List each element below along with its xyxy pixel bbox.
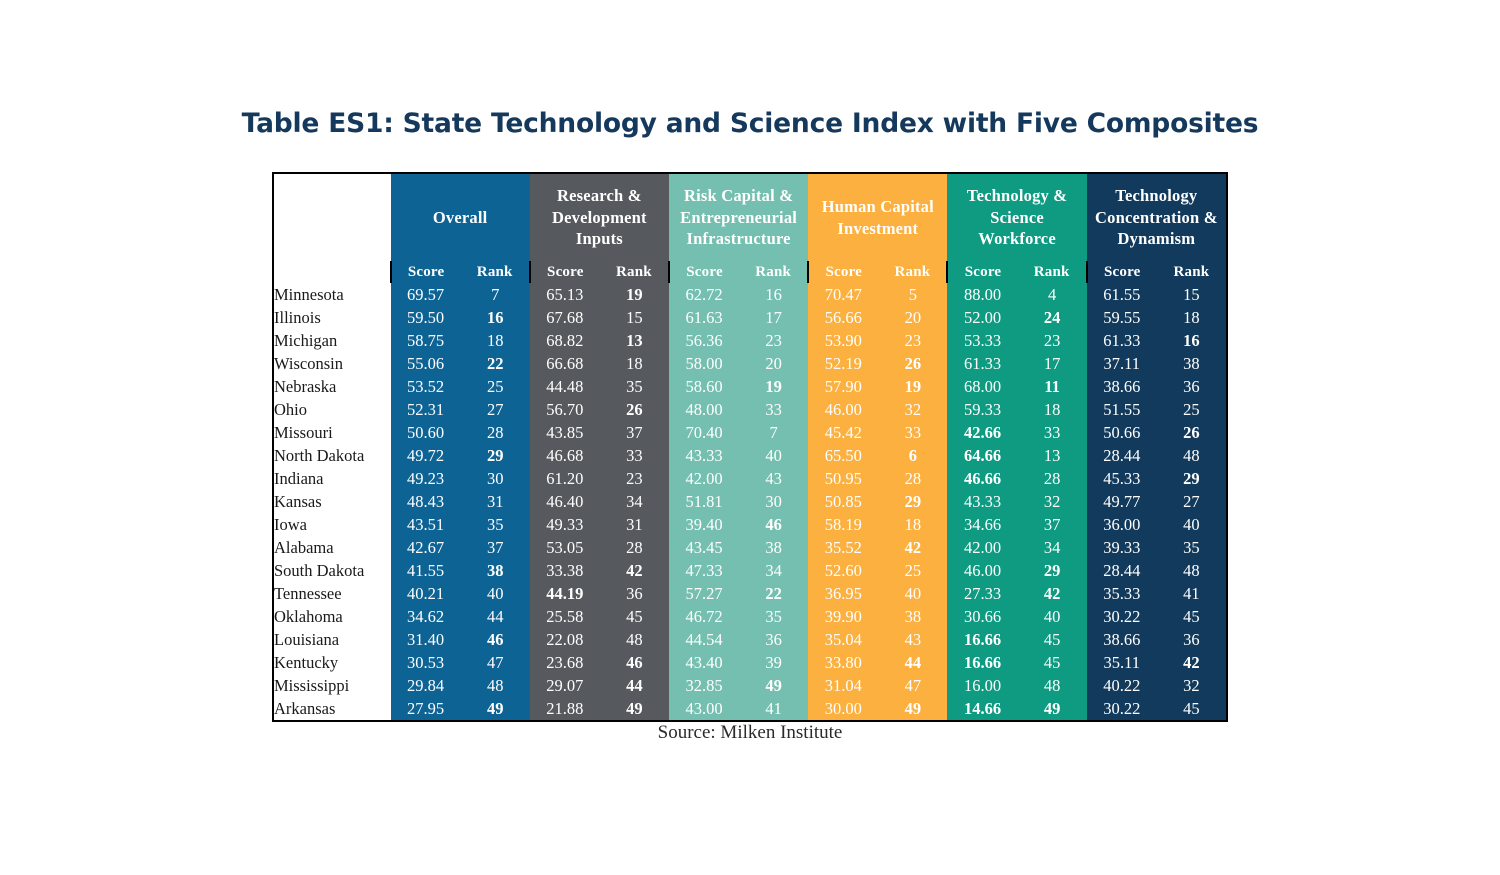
state-name-cell: Michigan: [274, 329, 391, 352]
techconc-rank-cell: 42: [1157, 651, 1226, 674]
techconc-rank-cell: 45: [1157, 605, 1226, 628]
rd-score-cell: 43.85: [530, 421, 600, 444]
overall-score-cell: 49.23: [391, 467, 461, 490]
workf-rank-cell: 28: [1018, 467, 1087, 490]
techconc-score-cell: 30.22: [1087, 605, 1157, 628]
rd-score-cell: 46.40: [530, 490, 600, 513]
sub-header-human-score: Score: [808, 261, 878, 283]
overall-rank-cell: 27: [461, 398, 530, 421]
overall-score-cell: 29.84: [391, 674, 461, 697]
human-score-cell: 36.95: [808, 582, 878, 605]
table-row: Wisconsin55.062266.681858.002052.192661.…: [274, 352, 1226, 375]
state-name-cell: North Dakota: [274, 444, 391, 467]
group-header-rd-line3: Inputs: [530, 228, 669, 250]
overall-score-cell: 69.57: [391, 283, 461, 306]
state-name-cell: Arkansas: [274, 697, 391, 720]
rd-rank-cell: 48: [600, 628, 669, 651]
human-rank-cell: 19: [878, 375, 947, 398]
rd-score-cell: 29.07: [530, 674, 600, 697]
risk-rank-cell: 46: [739, 513, 808, 536]
human-score-cell: 52.60: [808, 559, 878, 582]
risk-score-cell: 46.72: [669, 605, 739, 628]
state-name-cell: Tennessee: [274, 582, 391, 605]
human-score-cell: 39.90: [808, 605, 878, 628]
human-rank-cell: 33: [878, 421, 947, 444]
human-rank-cell: 18: [878, 513, 947, 536]
overall-score-cell: 50.60: [391, 421, 461, 444]
techconc-rank-cell: 36: [1157, 375, 1226, 398]
sub-header-overall-score: Score: [391, 261, 461, 283]
techconc-rank-cell: 35: [1157, 536, 1226, 559]
risk-rank-cell: 17: [739, 306, 808, 329]
workf-rank-cell: 24: [1018, 306, 1087, 329]
human-rank-cell: 20: [878, 306, 947, 329]
risk-rank-cell: 22: [739, 582, 808, 605]
rd-score-cell: 67.68: [530, 306, 600, 329]
overall-rank-cell: 7: [461, 283, 530, 306]
risk-score-cell: 48.00: [669, 398, 739, 421]
group-header-human-capital-investment: Human Capital Investment: [808, 174, 947, 261]
table-body: Minnesota69.57765.131962.721670.47588.00…: [274, 283, 1226, 720]
overall-score-cell: 58.75: [391, 329, 461, 352]
risk-score-cell: 39.40: [669, 513, 739, 536]
techconc-rank-cell: 27: [1157, 490, 1226, 513]
workf-score-cell: 30.66: [947, 605, 1017, 628]
sub-header-techconc-rank: Rank: [1157, 261, 1226, 283]
state-name-cell: Ohio: [274, 398, 391, 421]
human-score-cell: 31.04: [808, 674, 878, 697]
table-row: Minnesota69.57765.131962.721670.47588.00…: [274, 283, 1226, 306]
risk-score-cell: 58.00: [669, 352, 739, 375]
techconc-score-cell: 49.77: [1087, 490, 1157, 513]
workf-score-cell: 59.33: [947, 398, 1017, 421]
table-row: Illinois59.501667.681561.631756.662052.0…: [274, 306, 1226, 329]
sub-header-corner: [274, 261, 391, 283]
group-header-rd-line2: Development: [530, 207, 669, 229]
human-rank-cell: 5: [878, 283, 947, 306]
rd-score-cell: 65.13: [530, 283, 600, 306]
overall-rank-cell: 35: [461, 513, 530, 536]
group-header-techconc-line1: Technology: [1087, 185, 1226, 207]
human-score-cell: 35.52: [808, 536, 878, 559]
risk-score-cell: 43.45: [669, 536, 739, 559]
sub-header-overall-rank: Rank: [461, 261, 530, 283]
workf-rank-cell: 40: [1018, 605, 1087, 628]
risk-rank-cell: 49: [739, 674, 808, 697]
techconc-score-cell: 61.33: [1087, 329, 1157, 352]
workf-score-cell: 14.66: [947, 697, 1017, 720]
state-name-cell: Nebraska: [274, 375, 391, 398]
overall-rank-cell: 28: [461, 421, 530, 444]
overall-rank-cell: 46: [461, 628, 530, 651]
workf-score-cell: 16.66: [947, 651, 1017, 674]
human-rank-cell: 32: [878, 398, 947, 421]
state-name-cell: Oklahoma: [274, 605, 391, 628]
table-row: Indiana49.233061.202342.004350.952846.66…: [274, 467, 1226, 490]
risk-score-cell: 58.60: [669, 375, 739, 398]
techconc-rank-cell: 15: [1157, 283, 1226, 306]
overall-rank-cell: 48: [461, 674, 530, 697]
techconc-rank-cell: 40: [1157, 513, 1226, 536]
techconc-score-cell: 35.11: [1087, 651, 1157, 674]
workf-score-cell: 61.33: [947, 352, 1017, 375]
rd-score-cell: 53.05: [530, 536, 600, 559]
rd-rank-cell: 26: [600, 398, 669, 421]
human-rank-cell: 38: [878, 605, 947, 628]
techconc-score-cell: 51.55: [1087, 398, 1157, 421]
workf-rank-cell: 29: [1018, 559, 1087, 582]
human-score-cell: 57.90: [808, 375, 878, 398]
corner-cell: [274, 174, 391, 261]
overall-score-cell: 49.72: [391, 444, 461, 467]
state-name-cell: Mississippi: [274, 674, 391, 697]
rd-rank-cell: 44: [600, 674, 669, 697]
risk-rank-cell: 19: [739, 375, 808, 398]
techconc-score-cell: 50.66: [1087, 421, 1157, 444]
human-rank-cell: 40: [878, 582, 947, 605]
workf-score-cell: 42.66: [947, 421, 1017, 444]
risk-score-cell: 57.27: [669, 582, 739, 605]
human-score-cell: 30.00: [808, 697, 878, 720]
rd-rank-cell: 19: [600, 283, 669, 306]
human-rank-cell: 29: [878, 490, 947, 513]
rd-score-cell: 22.08: [530, 628, 600, 651]
group-header-overall-line1: Overall: [391, 207, 530, 229]
risk-rank-cell: 36: [739, 628, 808, 651]
risk-score-cell: 51.81: [669, 490, 739, 513]
overall-rank-cell: 49: [461, 697, 530, 720]
table-row: South Dakota41.553833.384247.333452.6025…: [274, 559, 1226, 582]
human-score-cell: 45.42: [808, 421, 878, 444]
rd-score-cell: 33.38: [530, 559, 600, 582]
risk-score-cell: 62.72: [669, 283, 739, 306]
techconc-rank-cell: 45: [1157, 697, 1226, 720]
workf-rank-cell: 48: [1018, 674, 1087, 697]
techconc-rank-cell: 29: [1157, 467, 1226, 490]
risk-rank-cell: 20: [739, 352, 808, 375]
human-rank-cell: 26: [878, 352, 947, 375]
workf-score-cell: 46.00: [947, 559, 1017, 582]
state-name-cell: Illinois: [274, 306, 391, 329]
rd-score-cell: 56.70: [530, 398, 600, 421]
workf-rank-cell: 33: [1018, 421, 1087, 444]
state-technology-science-index-table: Overall Research & Development Inputs Ri…: [272, 172, 1228, 722]
techconc-rank-cell: 18: [1157, 306, 1226, 329]
rd-rank-cell: 36: [600, 582, 669, 605]
sub-header-rd-rank: Rank: [600, 261, 669, 283]
overall-score-cell: 42.67: [391, 536, 461, 559]
state-name-cell: Louisiana: [274, 628, 391, 651]
group-header-human-line2: Investment: [808, 218, 947, 240]
rd-score-cell: 25.58: [530, 605, 600, 628]
overall-score-cell: 52.31: [391, 398, 461, 421]
table-row: Alabama42.673753.052843.453835.524242.00…: [274, 536, 1226, 559]
group-header-workforce-line2: Science: [947, 207, 1086, 229]
overall-rank-cell: 38: [461, 559, 530, 582]
rd-score-cell: 46.68: [530, 444, 600, 467]
human-score-cell: 35.04: [808, 628, 878, 651]
overall-score-cell: 53.52: [391, 375, 461, 398]
group-header-overall: Overall: [391, 174, 530, 261]
overall-score-cell: 30.53: [391, 651, 461, 674]
rd-rank-cell: 28: [600, 536, 669, 559]
workf-score-cell: 16.00: [947, 674, 1017, 697]
risk-rank-cell: 34: [739, 559, 808, 582]
rd-rank-cell: 42: [600, 559, 669, 582]
techconc-score-cell: 37.11: [1087, 352, 1157, 375]
table-row: Ohio52.312756.702648.003346.003259.33185…: [274, 398, 1226, 421]
techconc-rank-cell: 36: [1157, 628, 1226, 651]
group-header-research-development-inputs: Research & Development Inputs: [530, 174, 669, 261]
table-row: Nebraska53.522544.483558.601957.901968.0…: [274, 375, 1226, 398]
risk-score-cell: 70.40: [669, 421, 739, 444]
human-score-cell: 46.00: [808, 398, 878, 421]
human-rank-cell: 42: [878, 536, 947, 559]
group-header-risk-line2: Entrepreneurial: [669, 207, 808, 229]
techconc-score-cell: 28.44: [1087, 559, 1157, 582]
techconc-score-cell: 36.00: [1087, 513, 1157, 536]
techconc-score-cell: 30.22: [1087, 697, 1157, 720]
overall-score-cell: 41.55: [391, 559, 461, 582]
human-score-cell: 50.95: [808, 467, 878, 490]
group-header-technology-science-workforce: Technology & Science Workforce: [947, 174, 1086, 261]
techconc-score-cell: 59.55: [1087, 306, 1157, 329]
workf-score-cell: 46.66: [947, 467, 1017, 490]
techconc-rank-cell: 41: [1157, 582, 1226, 605]
table-row: Arkansas27.954921.884943.004130.004914.6…: [274, 697, 1226, 720]
workf-rank-cell: 34: [1018, 536, 1087, 559]
human-rank-cell: 43: [878, 628, 947, 651]
workf-rank-cell: 45: [1018, 628, 1087, 651]
human-score-cell: 65.50: [808, 444, 878, 467]
risk-score-cell: 32.85: [669, 674, 739, 697]
workf-score-cell: 52.00: [947, 306, 1017, 329]
sub-header-risk-score: Score: [669, 261, 739, 283]
rd-rank-cell: 13: [600, 329, 669, 352]
human-rank-cell: 6: [878, 444, 947, 467]
rd-rank-cell: 37: [600, 421, 669, 444]
overall-rank-cell: 37: [461, 536, 530, 559]
workf-score-cell: 43.33: [947, 490, 1017, 513]
rd-score-cell: 68.82: [530, 329, 600, 352]
overall-score-cell: 40.21: [391, 582, 461, 605]
rd-rank-cell: 31: [600, 513, 669, 536]
workf-score-cell: 34.66: [947, 513, 1017, 536]
rd-score-cell: 44.48: [530, 375, 600, 398]
risk-rank-cell: 38: [739, 536, 808, 559]
techconc-score-cell: 28.44: [1087, 444, 1157, 467]
human-score-cell: 50.85: [808, 490, 878, 513]
risk-score-cell: 43.33: [669, 444, 739, 467]
human-rank-cell: 47: [878, 674, 947, 697]
sub-header-workforce-rank: Rank: [1018, 261, 1087, 283]
techconc-score-cell: 40.22: [1087, 674, 1157, 697]
techconc-score-cell: 38.66: [1087, 628, 1157, 651]
techconc-rank-cell: 25: [1157, 398, 1226, 421]
sub-header-rd-score: Score: [530, 261, 600, 283]
table-row: Kansas48.433146.403451.813050.852943.333…: [274, 490, 1226, 513]
overall-score-cell: 59.50: [391, 306, 461, 329]
overall-rank-cell: 31: [461, 490, 530, 513]
risk-score-cell: 43.00: [669, 697, 739, 720]
overall-rank-cell: 29: [461, 444, 530, 467]
risk-rank-cell: 39: [739, 651, 808, 674]
sub-header-techconc-score: Score: [1087, 261, 1157, 283]
overall-rank-cell: 25: [461, 375, 530, 398]
table-row: Missouri50.602843.853770.40745.423342.66…: [274, 421, 1226, 444]
table-head: Overall Research & Development Inputs Ri…: [274, 174, 1226, 283]
rd-score-cell: 49.33: [530, 513, 600, 536]
techconc-rank-cell: 48: [1157, 444, 1226, 467]
workf-score-cell: 88.00: [947, 283, 1017, 306]
overall-score-cell: 31.40: [391, 628, 461, 651]
rd-score-cell: 44.19: [530, 582, 600, 605]
state-name-cell: Kansas: [274, 490, 391, 513]
sub-header-row: Score Rank Score Rank Score Rank Score R…: [274, 261, 1226, 283]
risk-score-cell: 47.33: [669, 559, 739, 582]
risk-rank-cell: 16: [739, 283, 808, 306]
rd-rank-cell: 33: [600, 444, 669, 467]
workf-rank-cell: 49: [1018, 697, 1087, 720]
workf-score-cell: 27.33: [947, 582, 1017, 605]
rd-score-cell: 21.88: [530, 697, 600, 720]
group-header-human-line1: Human Capital: [808, 196, 947, 218]
human-score-cell: 56.66: [808, 306, 878, 329]
group-header-techconc-line3: Dynamism: [1087, 228, 1226, 250]
risk-rank-cell: 7: [739, 421, 808, 444]
overall-rank-cell: 40: [461, 582, 530, 605]
overall-rank-cell: 30: [461, 467, 530, 490]
workf-score-cell: 64.66: [947, 444, 1017, 467]
table-row: North Dakota49.722946.683343.334065.5066…: [274, 444, 1226, 467]
human-rank-cell: 23: [878, 329, 947, 352]
techconc-rank-cell: 32: [1157, 674, 1226, 697]
risk-rank-cell: 35: [739, 605, 808, 628]
sub-header-risk-rank: Rank: [739, 261, 808, 283]
table-row: Louisiana31.404622.084844.543635.044316.…: [274, 628, 1226, 651]
workf-score-cell: 53.33: [947, 329, 1017, 352]
table-row: Michigan58.751868.821356.362353.902353.3…: [274, 329, 1226, 352]
risk-rank-cell: 40: [739, 444, 808, 467]
table-row: Mississippi29.844829.074432.854931.04471…: [274, 674, 1226, 697]
risk-score-cell: 43.40: [669, 651, 739, 674]
workf-rank-cell: 37: [1018, 513, 1087, 536]
overall-score-cell: 48.43: [391, 490, 461, 513]
table-row: Tennessee40.214044.193657.272236.954027.…: [274, 582, 1226, 605]
sub-header-human-rank: Rank: [878, 261, 947, 283]
risk-score-cell: 56.36: [669, 329, 739, 352]
risk-rank-cell: 41: [739, 697, 808, 720]
group-header-workforce-line1: Technology &: [947, 185, 1086, 207]
techconc-score-cell: 45.33: [1087, 467, 1157, 490]
overall-rank-cell: 18: [461, 329, 530, 352]
overall-rank-cell: 47: [461, 651, 530, 674]
rd-rank-cell: 45: [600, 605, 669, 628]
techconc-score-cell: 61.55: [1087, 283, 1157, 306]
group-header-risk-line1: Risk Capital &: [669, 185, 808, 207]
group-header-techconc-line2: Concentration &: [1087, 207, 1226, 229]
group-header-row: Overall Research & Development Inputs Ri…: [274, 174, 1226, 261]
rd-rank-cell: 46: [600, 651, 669, 674]
workf-score-cell: 42.00: [947, 536, 1017, 559]
workf-rank-cell: 45: [1018, 651, 1087, 674]
techconc-rank-cell: 26: [1157, 421, 1226, 444]
state-name-cell: Iowa: [274, 513, 391, 536]
risk-rank-cell: 23: [739, 329, 808, 352]
workf-rank-cell: 13: [1018, 444, 1087, 467]
source-note: Source: Milken Institute: [0, 722, 1500, 744]
group-header-rd-line1: Research &: [530, 185, 669, 207]
risk-score-cell: 42.00: [669, 467, 739, 490]
workf-score-cell: 16.66: [947, 628, 1017, 651]
state-name-cell: Kentucky: [274, 651, 391, 674]
workf-rank-cell: 4: [1018, 283, 1087, 306]
rd-rank-cell: 18: [600, 352, 669, 375]
risk-rank-cell: 30: [739, 490, 808, 513]
data-table: Overall Research & Development Inputs Ri…: [274, 174, 1226, 720]
human-rank-cell: 44: [878, 651, 947, 674]
rd-rank-cell: 35: [600, 375, 669, 398]
workf-rank-cell: 18: [1018, 398, 1087, 421]
state-name-cell: Missouri: [274, 421, 391, 444]
group-header-workforce-line3: Workforce: [947, 228, 1086, 250]
overall-score-cell: 55.06: [391, 352, 461, 375]
document-page: Table ES1: State Technology and Science …: [0, 0, 1500, 875]
group-header-technology-concentration-dynamism: Technology Concentration & Dynamism: [1087, 174, 1226, 261]
group-header-risk-capital-entrepreneurial-infrastructure: Risk Capital & Entrepreneurial Infrastru…: [669, 174, 808, 261]
workf-rank-cell: 32: [1018, 490, 1087, 513]
techconc-rank-cell: 48: [1157, 559, 1226, 582]
human-score-cell: 58.19: [808, 513, 878, 536]
workf-score-cell: 68.00: [947, 375, 1017, 398]
page-title: Table ES1: State Technology and Science …: [0, 108, 1500, 139]
overall-rank-cell: 22: [461, 352, 530, 375]
state-name-cell: South Dakota: [274, 559, 391, 582]
human-score-cell: 33.80: [808, 651, 878, 674]
overall-score-cell: 27.95: [391, 697, 461, 720]
rd-rank-cell: 49: [600, 697, 669, 720]
table-row: Oklahoma34.624425.584546.723539.903830.6…: [274, 605, 1226, 628]
table-row: Kentucky30.534723.684643.403933.804416.6…: [274, 651, 1226, 674]
rd-score-cell: 61.20: [530, 467, 600, 490]
table-row: Iowa43.513549.333139.404658.191834.66373…: [274, 513, 1226, 536]
techconc-rank-cell: 16: [1157, 329, 1226, 352]
human-score-cell: 52.19: [808, 352, 878, 375]
human-rank-cell: 25: [878, 559, 947, 582]
overall-rank-cell: 16: [461, 306, 530, 329]
state-name-cell: Indiana: [274, 467, 391, 490]
human-rank-cell: 49: [878, 697, 947, 720]
state-name-cell: Minnesota: [274, 283, 391, 306]
workf-rank-cell: 23: [1018, 329, 1087, 352]
overall-rank-cell: 44: [461, 605, 530, 628]
state-name-cell: Alabama: [274, 536, 391, 559]
techconc-score-cell: 38.66: [1087, 375, 1157, 398]
rd-score-cell: 23.68: [530, 651, 600, 674]
workf-rank-cell: 42: [1018, 582, 1087, 605]
human-score-cell: 53.90: [808, 329, 878, 352]
rd-score-cell: 66.68: [530, 352, 600, 375]
risk-rank-cell: 33: [739, 398, 808, 421]
sub-header-workforce-score: Score: [947, 261, 1017, 283]
techconc-score-cell: 35.33: [1087, 582, 1157, 605]
overall-score-cell: 34.62: [391, 605, 461, 628]
techconc-rank-cell: 38: [1157, 352, 1226, 375]
human-rank-cell: 28: [878, 467, 947, 490]
overall-score-cell: 43.51: [391, 513, 461, 536]
risk-rank-cell: 43: [739, 467, 808, 490]
techconc-score-cell: 39.33: [1087, 536, 1157, 559]
